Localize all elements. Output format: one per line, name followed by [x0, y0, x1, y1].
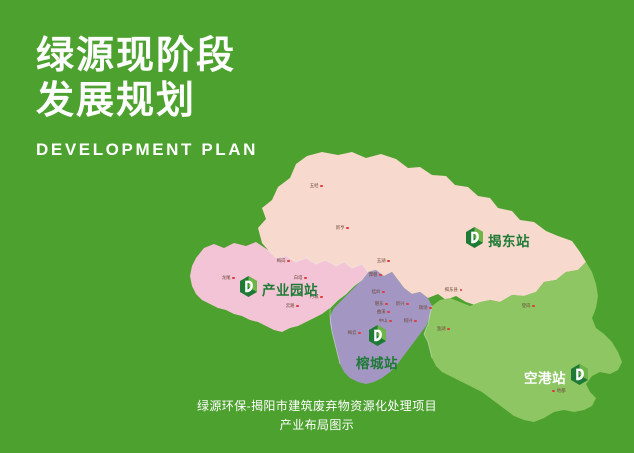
city-dot-icon [232, 277, 235, 280]
page-title-line-1: 绿源现阶段 [36, 34, 336, 79]
city-dot-icon [379, 274, 382, 277]
city-marker: 锡场 [419, 305, 432, 311]
city-label: 龙尾 [222, 275, 231, 281]
caption-line-2: 产业布局图示 [0, 416, 634, 435]
poster-root: 绿源现阶段 发展规划 DEVELOPMENT PLAN 产业园站 揭东站 [0, 0, 634, 453]
city-dot-icon [385, 303, 388, 306]
city-dot-icon [460, 289, 463, 292]
city-dot-icon [552, 390, 555, 393]
city-dot-icon [389, 320, 392, 323]
city-marker: 龙尾 [222, 275, 235, 281]
lvyuan-logo-icon [240, 276, 257, 302]
caption-line-1: 绿源环保-揭阳市建筑废弃物资源化处理项目 [0, 397, 634, 416]
city-marker: 云路 [286, 303, 299, 309]
city-label: 磐东 [375, 301, 384, 307]
lvyuan-logo-icon [466, 227, 483, 253]
title-block: 绿源现阶段 发展规划 DEVELOPMENT PLAN [36, 34, 336, 160]
city-marker: 五经 [310, 183, 323, 189]
city-label: 新兴 [396, 301, 405, 307]
city-label: 揭东县 [445, 287, 458, 293]
city-dot-icon [532, 305, 535, 308]
city-dot-icon [382, 291, 385, 294]
city-label: 玉湖 [377, 258, 386, 264]
city-marker: 磐东 [375, 301, 388, 307]
station-marker-jiedong[interactable]: 揭东站 [466, 227, 530, 253]
page-title-line-2: 发展规划 [36, 79, 336, 124]
city-marker: 新亨 [336, 225, 349, 231]
city-label: 云路 [286, 303, 295, 309]
city-dot-icon [346, 227, 349, 230]
city-dot-icon [287, 260, 290, 263]
city-dot-icon [296, 305, 299, 308]
city-dot-icon [320, 185, 323, 188]
page-subtitle-english: DEVELOPMENT PLAN [36, 140, 336, 160]
city-marker: 曲溪 [377, 309, 390, 315]
station-label-rongcheng: 榕城站 [356, 352, 398, 372]
city-marker: 玉湖 [377, 258, 390, 264]
city-label: 榕兴 [404, 318, 413, 324]
city-label: 五经 [310, 183, 319, 189]
city-marker: 榕兴 [404, 318, 417, 324]
city-dot-icon [447, 328, 450, 331]
lvyuan-logo-icon [571, 364, 588, 390]
station-label-konggang: 空港站 [524, 367, 566, 387]
city-label: 新亨 [336, 225, 345, 231]
station-marker-rongcheng[interactable]: 榕城站 [356, 325, 398, 372]
city-label: 登岗 [522, 303, 531, 309]
city-marker: 中山 [379, 318, 392, 324]
city-marker: 新兴 [396, 301, 409, 307]
station-marker-chanyeyuan[interactable]: 产业园站 [240, 276, 318, 302]
caption-block: 绿源环保-揭阳市建筑废弃物资源化处理项目 产业布局图示 [0, 397, 634, 435]
city-label: 曲溪 [377, 309, 386, 315]
station-marker-konggang[interactable]: 空港站 [524, 364, 588, 390]
station-label-jiedong: 揭东站 [488, 230, 530, 250]
city-marker: 渔湖 [437, 326, 450, 332]
city-dot-icon [387, 311, 390, 314]
city-label: 中山 [379, 318, 388, 324]
city-label: 桂岭 [372, 289, 381, 295]
city-marker: 登岗 [522, 303, 535, 309]
city-dot-icon [429, 307, 432, 310]
city-marker: 桂岭 [372, 289, 385, 295]
city-marker: 霖磐 [369, 272, 382, 278]
city-label: 梅岗 [277, 258, 286, 264]
city-marker: 梅岗 [277, 258, 290, 264]
city-label: 锡场 [419, 305, 428, 311]
city-dot-icon [414, 320, 417, 323]
lvyuan-logo-icon [369, 325, 386, 351]
station-label-chanyeyuan: 产业园站 [262, 279, 318, 299]
city-marker: 揭东县 [445, 287, 462, 293]
city-dot-icon [320, 296, 323, 299]
city-dot-icon [406, 303, 409, 306]
city-dot-icon [387, 260, 390, 263]
city-label: 渔湖 [437, 326, 446, 332]
city-label: 霖磐 [369, 272, 378, 278]
